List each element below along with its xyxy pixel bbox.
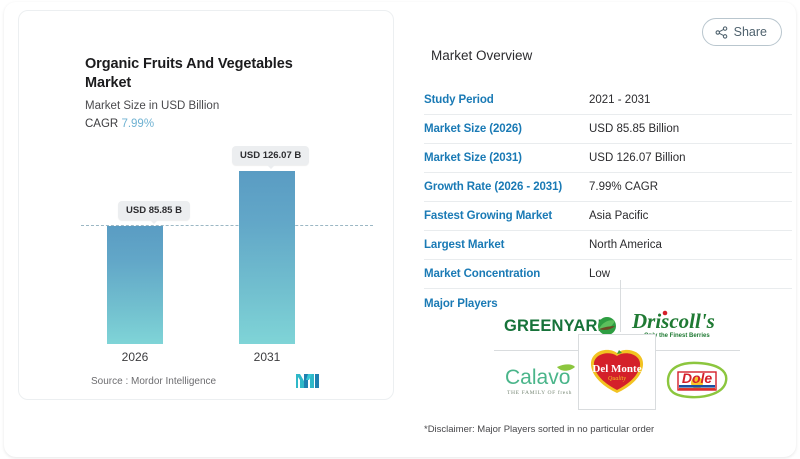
row-value: Low xyxy=(589,268,610,280)
report-card: Organic Fruits And Vegetables Market Mar… xyxy=(4,2,796,457)
greenyard-logo: GREENYARD xyxy=(504,314,618,336)
source-label: Source : xyxy=(91,376,128,387)
player-logo-delmonte[interactable]: Del Monte Quality xyxy=(578,334,656,410)
row-key: Growth Rate (2026 - 2031) xyxy=(424,181,589,193)
table-row: Growth Rate (2026 - 2031) 7.99% CAGR xyxy=(424,173,792,202)
bar-label-2031: USD 126.07 B xyxy=(232,146,309,165)
svg-text:Del Monte: Del Monte xyxy=(592,363,641,375)
row-key: Study Period xyxy=(424,94,589,106)
bar-2031[interactable] xyxy=(239,171,295,344)
row-key: Market Size (2026) xyxy=(424,123,589,135)
table-row: Market Concentration Low xyxy=(424,260,792,289)
row-key: Largest Market xyxy=(424,239,589,251)
share-button[interactable]: Share xyxy=(702,18,782,46)
table-row: Market Size (2031) USD 126.07 Billion xyxy=(424,144,792,173)
x-tick-2026: 2026 xyxy=(90,350,180,364)
share-button-label: Share xyxy=(734,25,767,39)
row-key: Fastest Growing Market xyxy=(424,210,589,222)
table-row: Study Period 2021 - 2031 xyxy=(424,86,792,115)
svg-text:Driscoll's: Driscoll's xyxy=(631,309,715,333)
table-row: Largest Market North America xyxy=(424,231,792,260)
share-network-icon xyxy=(715,26,728,39)
source-line: Source : Mordor Intelligence xyxy=(91,376,216,387)
chart-card: Organic Fruits And Vegetables Market Mar… xyxy=(18,10,394,400)
row-value: USD 126.07 Billion xyxy=(589,152,686,164)
x-tick-2031: 2031 xyxy=(222,350,312,364)
market-overview-heading: Market Overview xyxy=(431,48,532,63)
source-name: Mordor Intelligence xyxy=(131,376,216,387)
svg-text:Dole: Dole xyxy=(682,370,713,386)
market-overview-table: Study Period 2021 - 2031 Market Size (20… xyxy=(424,86,792,319)
mordor-intelligence-logo xyxy=(296,373,322,389)
row-value: Asia Pacific xyxy=(589,210,648,222)
table-row: Market Size (2026) USD 85.85 Billion xyxy=(424,115,792,144)
svg-text:Quality: Quality xyxy=(608,376,626,382)
bar-chart-plot: USD 85.85 B USD 126.07 B 2026 2031 xyxy=(19,11,395,401)
screenshot-root: Organic Fruits And Vegetables Market Mar… xyxy=(0,0,800,459)
dole-logo: Dole xyxy=(660,359,734,401)
svg-text:GREENYARD: GREENYARD xyxy=(504,317,610,335)
row-value: North America xyxy=(589,239,662,251)
grid-divider-vertical xyxy=(620,280,621,332)
row-key: Market Concentration xyxy=(424,268,589,280)
player-logo-dole[interactable]: Dole xyxy=(654,356,740,404)
table-row: Fastest Growing Market Asia Pacific xyxy=(424,202,792,231)
svg-text:THE FAMILY OF fresh: THE FAMILY OF fresh xyxy=(507,389,572,396)
disclaimer-text: *Disclaimer: Major Players sorted in no … xyxy=(424,424,654,435)
bar-2026[interactable] xyxy=(107,226,163,344)
row-value: 2021 - 2031 xyxy=(589,94,650,106)
bar-label-2026: USD 85.85 B xyxy=(118,201,190,220)
row-value: USD 85.85 Billion xyxy=(589,123,679,135)
row-value: 7.99% CAGR xyxy=(589,181,658,193)
row-key: Market Size (2031) xyxy=(424,152,589,164)
delmonte-logo: Del Monte Quality xyxy=(586,348,648,396)
major-players-grid: GREENYARD Driscoll's Only the Finest Ber… xyxy=(494,298,740,410)
